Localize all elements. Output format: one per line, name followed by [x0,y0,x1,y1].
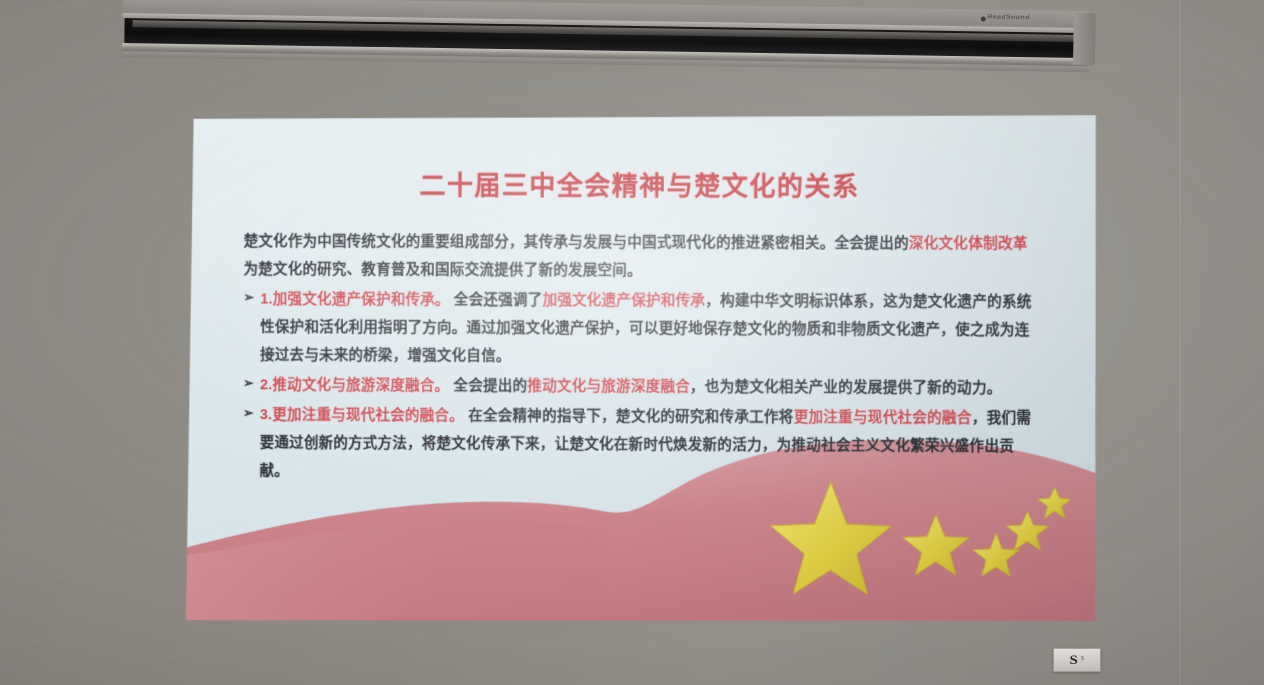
arrow-bullet-icon: ➢ [243,286,260,311]
highlighted-run: 推动文化与旅游深度融合 [527,379,690,396]
body-run: 全会提出的 [449,378,527,394]
slide-title: 二十届三中全会精神与楚文化的关系 [244,165,1037,204]
classroom-scene: ReadSound [0,0,1264,685]
body-run: 在全会精神的指导下，楚文化的研究和传承工作将 [464,408,794,426]
housing-indicator-dot [981,16,986,21]
highlighted-run: 加强文化遗产保护和传承 [542,293,705,310]
body-run: ，也为楚文化相关产业的发展提供了新的动力。 [690,379,1002,396]
highlighted-run: 2.推动文化与旅游深度融合。 [260,377,449,394]
bullet-item-text: 1.加强文化遗产保护和传承。 全会还强调了加强文化遗产保护和传承，构建中华文明标… [260,286,1036,373]
body-run: 为楚文化的研究、教育普及和国际交流提供了新的发展空间。 [244,262,642,279]
highlighted-run: 1.加强文化遗产保护和传承。 [260,292,449,309]
arrow-bullet-icon: ➢ [243,401,260,426]
sticker-sub-text: 5 [1081,657,1084,663]
projected-slide: 二十届三中全会精神与楚文化的关系 楚文化作为中国传统文化的重要组成部分，其传承与… [182,113,1097,626]
housing-brand-label: ReadSound [987,14,1030,21]
sticker-glyph: S [1069,652,1077,668]
bullet-item: ➢1.加强文化遗产保护和传承。 全会还强调了加强文化遗产保护和传承，构建中华文明… [243,286,1036,373]
wall-seam [1178,0,1181,685]
bullet-item: ➢3.更加注重与现代社会的融合。 在全会精神的指导下，楚文化的研究和传承工作将更… [243,401,1036,489]
projector-screen-housing[interactable]: ReadSound [122,0,1090,79]
wall-sticker: S 5 [1053,648,1101,672]
highlighted-run: 3.更加注重与现代社会的融合。 [260,407,464,424]
intro-paragraph: 楚文化作为中国传统文化的重要组成部分，其传承与发展与中国式现代化的推进紧密相关。… [243,228,1036,287]
slide-content: 二十届三中全会精神与楚文化的关系 楚文化作为中国传统文化的重要组成部分，其传承与… [182,113,1097,626]
bullet-item-text: 3.更加注重与现代社会的融合。 在全会精神的指导下，楚文化的研究和传承工作将更加… [260,401,1036,489]
body-run: 全会还强调了 [450,292,543,308]
bullet-item: ➢2.推动文化与旅游深度融合。 全会提出的推动文化与旅游深度融合，也为楚文化相关… [243,371,1036,403]
body-run: 楚文化作为中国传统文化的重要组成部分，其传承与发展与中国式现代化的推进紧密相关。… [244,234,909,252]
slide-body: 楚文化作为中国传统文化的重要组成部分，其传承与发展与中国式现代化的推进紧密相关。… [243,228,1037,490]
bullet-item-text: 2.推动文化与旅游深度融合。 全会提出的推动文化与旅游深度融合，也为楚文化相关产… [260,371,1036,403]
arrow-bullet-icon: ➢ [243,371,260,396]
highlighted-run: 深化文化体制改革 [909,236,1028,252]
highlighted-run: 更加注重与现代社会的融合 [794,410,972,427]
housing-end-cap [1073,13,1096,65]
